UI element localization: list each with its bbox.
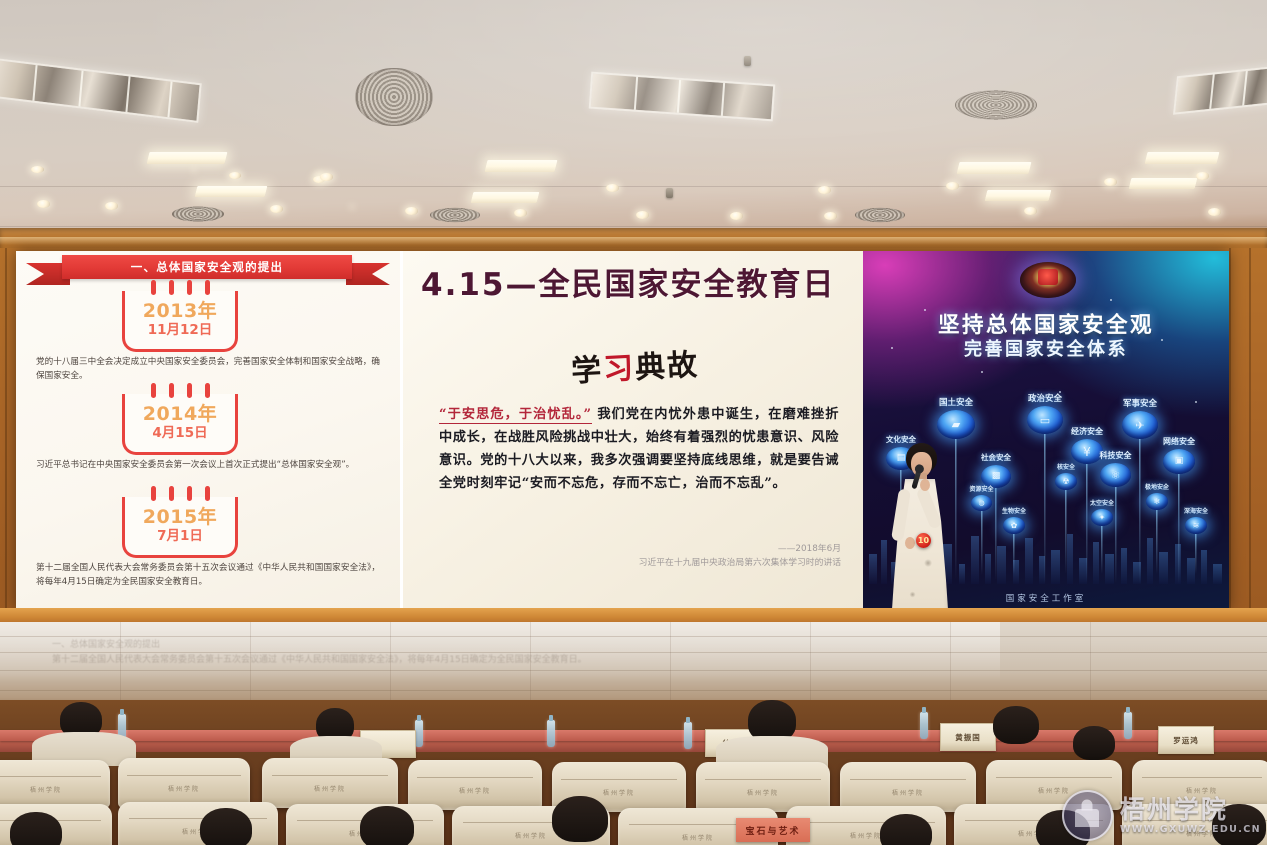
ceiling-panel-light (1129, 178, 1198, 189)
ceiling-panel-light (957, 162, 1032, 174)
attendee-head (360, 806, 414, 845)
auditorium-seat: 梧州学院 (262, 758, 398, 808)
table-nameplate: 罗运鸿 (1158, 726, 1214, 754)
security-node-label: 深海安全 (1184, 506, 1208, 515)
water-bottle (415, 720, 423, 747)
ceiling-downlight (229, 172, 241, 179)
timeline-year: 2015年 (143, 508, 217, 527)
ceiling-downlight (31, 166, 44, 173)
slide-reflection-on-floor: 一、总体国家安全观的提出 第十二届全国人民代表大会常务委员会第十五次会议通过《中… (52, 638, 612, 688)
ribbon-tail-right (346, 263, 390, 285)
source-date: ——2018年6月 (441, 543, 841, 557)
security-node: 国土安全 ▰ (937, 410, 975, 439)
timeline-note: 习近平总书记在中央国家安全委员会第一次会议上首次正式提出“总体国家安全观”。 (36, 459, 380, 473)
water-bottle (684, 722, 692, 749)
attendee-head (552, 796, 608, 842)
ceiling-panel-light (195, 186, 268, 197)
security-node-label: 政治安全 (1028, 392, 1062, 404)
security-node-label: 资源安全 (969, 484, 993, 493)
seat-placard: 宝石与艺术 (736, 818, 810, 842)
attendee-head (993, 706, 1039, 744)
ceiling-panel-light (1145, 152, 1220, 164)
ceiling-downlight (37, 200, 50, 208)
center-slide-source: ——2018年6月 习近平在十九届中央政治局第六次集体学习时的讲话 (441, 543, 841, 570)
military-security-icon: ✈ (1122, 411, 1158, 439)
security-node: 生物安全 ✿ (1003, 517, 1025, 534)
deep-sea-security-icon: ≋ (1185, 517, 1207, 534)
watermark-institution: 梧州学院 (1120, 797, 1261, 822)
ceiling-panel-light (485, 160, 558, 172)
contestant-number-badge: 10 (916, 533, 931, 548)
attendee-head (200, 808, 252, 845)
polar-security-icon: ❄ (1146, 493, 1168, 510)
nuclear-security-icon: ☢ (1055, 473, 1077, 490)
ceiling-troffer-light (589, 72, 776, 122)
timeline-day: 4月15日 (152, 427, 207, 441)
security-node-label: 军事安全 (1123, 397, 1157, 409)
security-node: 政治安全 ▭ (1027, 406, 1063, 434)
attendee-head (10, 812, 62, 845)
ceiling-downlight (270, 205, 283, 213)
security-node: 核安全 ☢ (1055, 473, 1077, 490)
center-slide-title: 4.15—全民国家安全教育日 (421, 259, 857, 304)
calendar-rings-icon (125, 383, 235, 398)
technology-security-icon: ⚛ (1100, 463, 1131, 487)
security-node-label: 极地安全 (1145, 482, 1169, 491)
security-node: 深海安全 ≋ (1185, 517, 1207, 534)
auditorium-seat: 梧州学院 (696, 762, 830, 812)
ceiling-downlight (824, 212, 837, 220)
slide-panel-left: 一、总体国家安全观的提出 2013年 11月12日 党的十八届三中全会决定成立中… (16, 251, 400, 610)
center-slide-quote: “于安思危，于治忧乱。” 我们党在内忧外患中诞生，在磨难挫折中成长，在战胜风险挑… (439, 403, 839, 495)
timeline-calendar-card: 2013年 11月12日 (122, 291, 238, 352)
ceiling-downlight (405, 207, 418, 215)
center-slide-calligraphy-seal: 学习典故 (570, 340, 700, 391)
timeline-calendar-card: 2014年 4月15日 (122, 394, 238, 455)
source-speech: 习近平在十九届中央政治局第六次集体学习时的讲话 (441, 557, 841, 571)
ceiling-downlight (1024, 207, 1037, 215)
network-security-icon: ▣ (1163, 449, 1195, 474)
timeline-note: 第十二届全国人民代表大会常务委员会第十五次会议通过《中华人民共和国国家安全法》，… (36, 562, 380, 590)
ceiling-air-vent (355, 68, 433, 126)
attendee-head (880, 814, 932, 845)
security-node: 极地安全 ❄ (1146, 493, 1168, 510)
presenter-right-hand (920, 479, 930, 491)
security-node-label: 国土安全 (939, 396, 973, 408)
ceiling-downlight (320, 173, 333, 181)
timeline-day: 7月1日 (157, 530, 203, 544)
right-slide-subhead: 完善国家安全体系 (863, 335, 1229, 361)
space-security-icon: ✦ (1091, 509, 1113, 526)
ceiling-troffer-light (0, 57, 202, 123)
ceiling-air-vent (430, 208, 480, 222)
ceiling-panel-light (985, 190, 1052, 201)
auditorium-seat: 梧州学院 (118, 758, 250, 808)
seal-prefix: 学 (570, 353, 604, 390)
ceiling (0, 0, 1267, 232)
auditorium-seat: 梧州学院 (840, 762, 976, 812)
ceiling-downlight (1104, 178, 1117, 186)
resource-security-icon: ◍ (971, 495, 992, 511)
timeline-calendar-card: 2015年 7月1日 (122, 497, 238, 558)
auditorium-seat: 梧州学院 (118, 802, 278, 845)
security-node-label: 生物安全 (1002, 506, 1026, 515)
seal-highlight: 习 (602, 351, 636, 388)
territory-security-icon: ▰ (937, 410, 975, 439)
left-slide-heading: 一、总体国家安全观的提出 (62, 255, 352, 279)
watermark-url: WWW.GXUWZ.EDU.CN (1120, 825, 1261, 835)
auditorium-seat: 梧州学院 (408, 760, 542, 810)
security-node: 资源安全 ◍ (971, 495, 992, 511)
timeline-note: 党的十八届三中全会决定成立中央国家安全委员会，完善国家安全体制和国家安全战略，确… (36, 356, 380, 384)
ceiling-downlight (514, 209, 527, 217)
ceiling-sprinkler (744, 56, 751, 66)
ceiling-air-vent (172, 206, 224, 221)
quote-highlight: “于安思危，于治忧乱。” (439, 407, 592, 424)
ceiling-panel-light (471, 192, 540, 203)
calendar-rings-icon (125, 280, 235, 295)
slide-panel-center: 4.15—全民国家安全教育日 学习典故 “于安思危，于治忧乱。” 我们党在内忧外… (400, 251, 863, 610)
watermark: 梧州学院 WWW.GXUWZ.EDU.CN (1062, 790, 1261, 841)
auditorium-seat: 梧州学院 (0, 760, 110, 808)
security-node: 经济安全 ¥ (1071, 439, 1103, 464)
ceiling-downlight (313, 176, 325, 183)
ceiling-downlight (1208, 208, 1221, 216)
security-node-label: 社会安全 (981, 452, 1011, 463)
university-seal-icon (1062, 790, 1113, 841)
ceiling-sprinkler (666, 188, 673, 198)
security-node: 太空安全 ✦ (1091, 509, 1113, 526)
economic-security-icon: ¥ (1071, 439, 1103, 464)
security-node: 军事安全 ✈ (1122, 411, 1158, 439)
projection-screen: 一、总体国家安全观的提出 2013年 11月12日 党的十八届三中全会决定成立中… (16, 251, 1229, 610)
security-node: 网络安全 ▣ (1163, 449, 1195, 474)
table-nameplate: 黄振国 (940, 723, 996, 751)
ceiling-downlight (818, 186, 831, 194)
ceiling-downlight (946, 182, 959, 190)
security-node-label: 经济安全 (1071, 426, 1103, 437)
seal-suffix: 典故 (634, 348, 700, 386)
political-security-icon: ▭ (1027, 406, 1063, 434)
security-node-label: 科技安全 (1100, 450, 1132, 461)
security-node-label: 核安全 (1057, 462, 1075, 471)
ceiling-downlight (105, 202, 118, 210)
ceiling-panel-light (147, 152, 228, 164)
water-bottle (547, 720, 555, 747)
lecture-hall-photo: 一、总体国家安全观的提出 2013年 11月12日 党的十八届三中全会决定成立中… (0, 0, 1267, 845)
security-node-label: 太空安全 (1090, 498, 1114, 507)
water-bottle (1124, 712, 1132, 739)
ceiling-air-vent (955, 90, 1037, 119)
water-bottle (920, 712, 928, 739)
presenter-left-hand (905, 537, 915, 549)
ceiling-troffer-light (1173, 63, 1267, 114)
national-security-emblem-icon (1020, 262, 1076, 298)
ceiling-downlight (606, 184, 619, 192)
attendee-head (1073, 726, 1115, 760)
timeline-day: 11月12日 (148, 324, 213, 338)
calendar-rings-icon (125, 486, 235, 501)
biological-security-icon: ✿ (1003, 517, 1025, 534)
ceiling-air-vent (855, 208, 905, 222)
security-node-label: 网络安全 (1163, 436, 1195, 447)
ceiling-downlight (730, 212, 743, 220)
security-node: 科技安全 ⚛ (1100, 463, 1131, 487)
ceiling-downlight (1196, 172, 1209, 180)
timeline-year: 2014年 (143, 405, 217, 424)
ceiling-downlight (636, 211, 649, 219)
timeline-year: 2013年 (143, 302, 217, 321)
